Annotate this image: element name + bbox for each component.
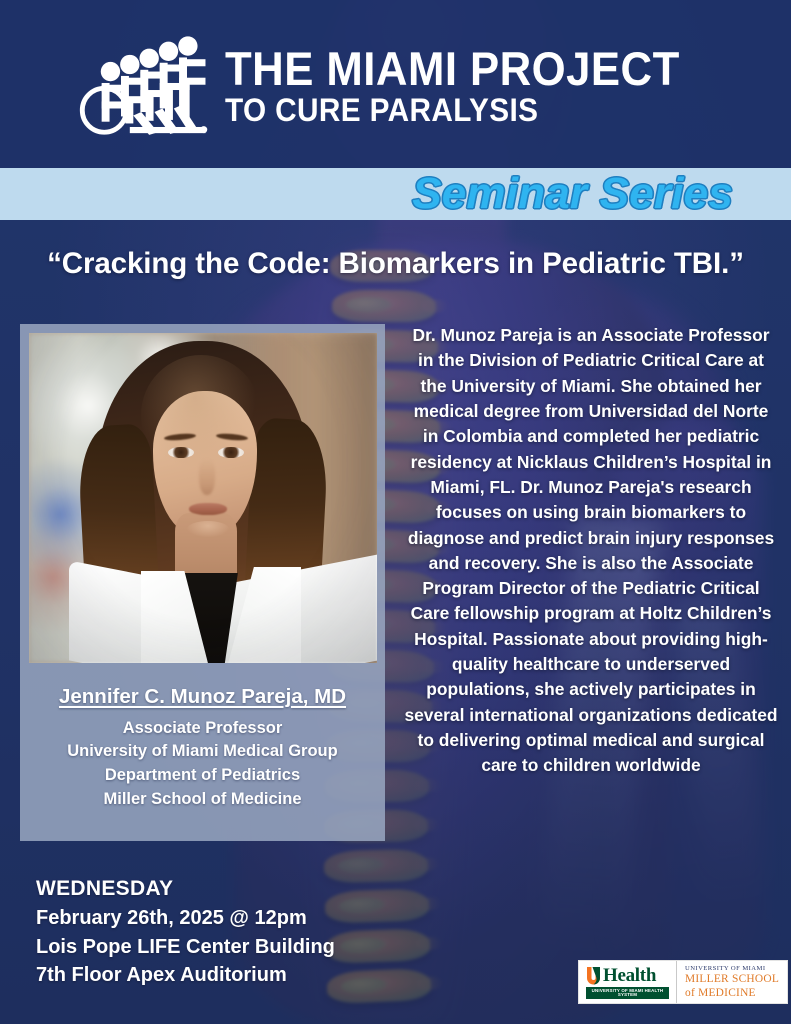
speaker-photo — [29, 333, 377, 663]
credential-line: Department of Pediatrics — [20, 764, 385, 788]
footer-logo-group: Health UNIVERSITY OF MIAMI HEALTH SYSTEM… — [578, 960, 788, 1004]
seminar-title-band: “Cracking the Code: Biomarkers in Pediat… — [0, 220, 791, 308]
org-name-line-2: TO CURE PARALYSIS — [225, 94, 538, 128]
uhealth-subtitle: UNIVERSITY OF MIAMI HEALTH SYSTEM — [586, 987, 669, 998]
event-date-time: February 26th, 2025 @ 12pm — [36, 904, 335, 933]
miller-school-logo: UNIVERSITY OF MIAMI MILLER SCHOOL of MED… — [677, 961, 787, 1003]
uhealth-logo: Health UNIVERSITY OF MIAMI HEALTH SYSTEM — [579, 961, 677, 1003]
seminar-title: “Cracking the Code: Biomarkers in Pediat… — [47, 247, 744, 281]
miller-school-line: MILLER SCHOOL — [685, 973, 779, 986]
miller-medicine-line: of MEDICINE — [685, 987, 779, 1000]
event-room: 7th Floor Apex Auditorium — [36, 961, 335, 990]
org-name-line-1: THE MIAMI PROJECT — [225, 46, 680, 91]
uhealth-wordmark: Health — [603, 966, 656, 985]
event-day: WEDNESDAY — [36, 874, 335, 904]
flyer-header: THE MIAMI PROJECT TO CURE PARALYSIS — [0, 0, 791, 168]
organization-wordmark: THE MIAMI PROJECT TO CURE PARALYSIS — [225, 46, 714, 127]
spine-vertebra — [324, 849, 429, 883]
speaker-credentials: Jennifer C. Munoz Pareja, MD Associate P… — [20, 684, 385, 812]
spine-vertebra — [325, 928, 430, 964]
spine-vertebra — [327, 968, 432, 1004]
miami-project-logo-icon — [77, 34, 209, 139]
credential-line: Associate Professor — [20, 717, 385, 741]
credential-line: Miller School of Medicine — [20, 788, 385, 812]
speaker-portrait-illustration — [29, 333, 377, 663]
credential-line: University of Miami Medical Group — [20, 740, 385, 764]
miller-university-line: UNIVERSITY OF MIAMI — [685, 965, 779, 973]
seminar-series-banner: Seminar Series — [0, 168, 791, 220]
spine-vertebra — [324, 888, 429, 923]
u-monogram-icon — [586, 966, 601, 985]
event-venue: Lois Pope LIFE Center Building — [36, 933, 335, 962]
speaker-name: Jennifer C. Munoz Pareja, MD — [20, 684, 385, 711]
speaker-bio: Dr. Munoz Pareja is an Associate Profess… — [404, 323, 778, 779]
event-details: WEDNESDAY February 26th, 2025 @ 12pm Loi… — [36, 874, 335, 990]
seminar-series-label: Seminar Series — [412, 169, 733, 219]
speaker-credential-list: Associate Professor University of Miami … — [20, 717, 385, 812]
seminar-flyer: THE MIAMI PROJECT TO CURE PARALYSIS Semi… — [0, 0, 791, 1024]
